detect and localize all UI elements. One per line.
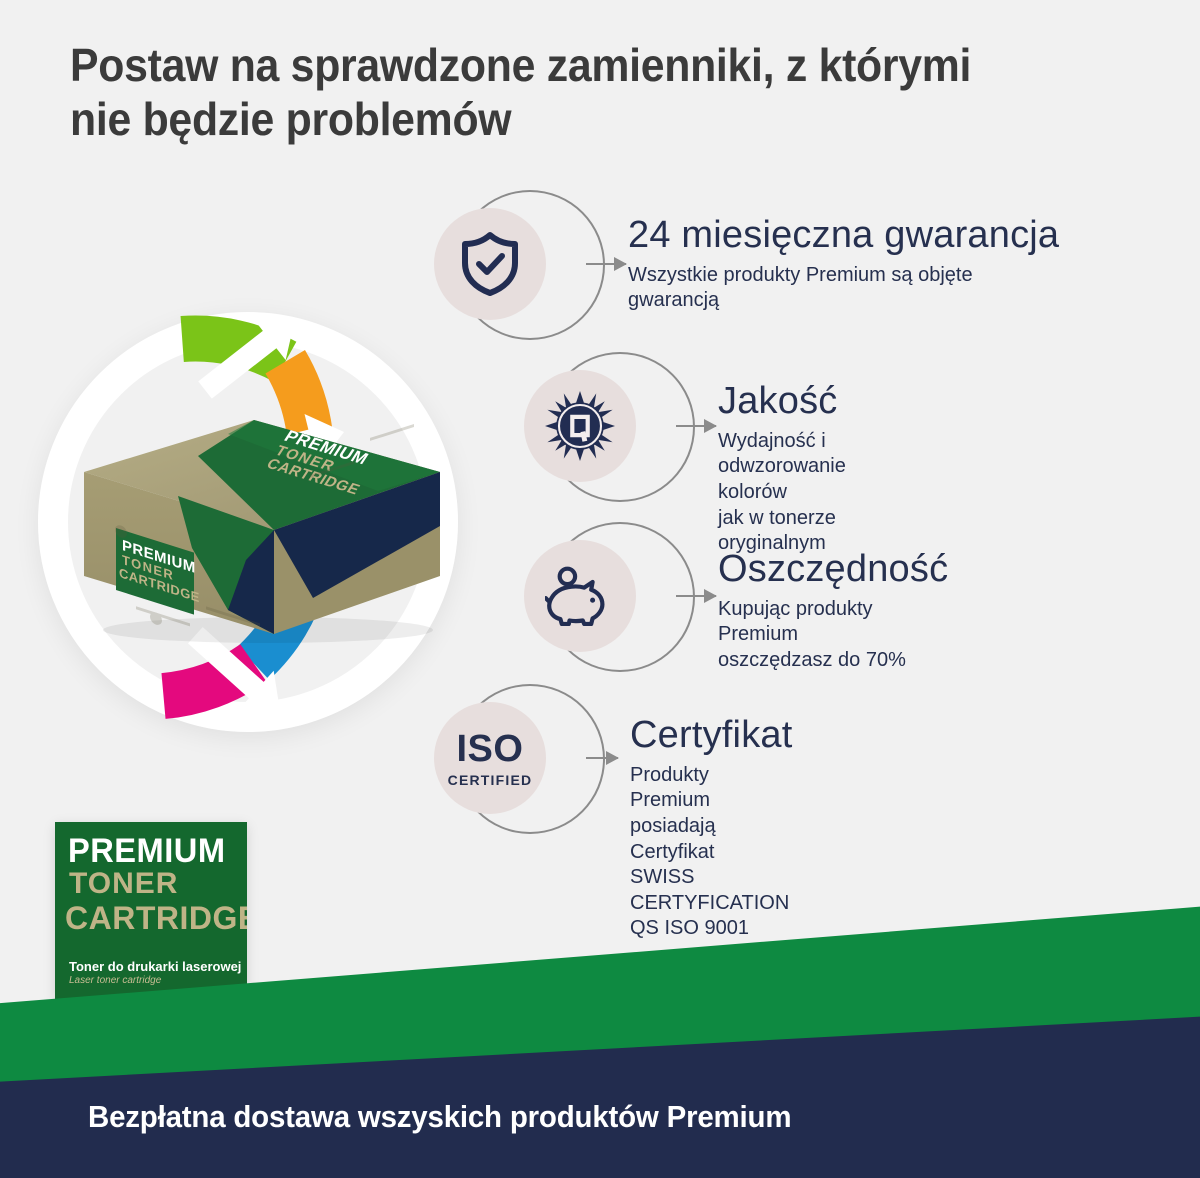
feature-connector-arrow-1 <box>586 263 626 265</box>
iso-label-main: ISO <box>448 730 533 768</box>
quality-sunburst-q-icon <box>545 391 615 461</box>
feature-text-3: Oszczędność Kupując produkty Premium osz… <box>718 550 948 674</box>
feature-title-3: Oszczędność <box>718 550 948 590</box>
logo-tagline-en: Laser toner cartridge <box>69 976 161 986</box>
feature-connector-arrow-2 <box>676 425 716 427</box>
logo-premium-text: PREMIUM <box>68 834 226 868</box>
iso-label-sub: CERTIFIED <box>448 773 533 787</box>
feature-body-2: Wydajność i odwzorowanie kolorów jak w t… <box>718 429 846 557</box>
infographic-canvas: Postaw na sprawdzone zamienniki, z który… <box>0 0 1200 1178</box>
feature-body-3: Kupując produkty Premium oszczędzasz do … <box>718 597 948 674</box>
feature-connector-arrow-3 <box>676 595 716 597</box>
feature-text-2: Jakość Wydajność i odwzorowanie kolorów … <box>718 382 846 557</box>
feature-title-1: 24 miesięczna gwarancja <box>628 216 1059 256</box>
feature-title-2: Jakość <box>718 382 846 422</box>
premium-toner-logo-card: PREMIUM TONER CARTRIDGE Toner do drukark… <box>55 822 247 1002</box>
feature-icon-circle-1 <box>434 208 546 320</box>
logo-toner-text: TONER <box>69 869 178 899</box>
footer-shipping-text: Bezpłatna dostawa wszyskich produktów Pr… <box>88 1099 791 1135</box>
page-title: Postaw na sprawdzone zamienniki, z który… <box>70 38 1056 147</box>
feature-title-4: Certyfikat <box>630 716 792 756</box>
logo-cartridge-text: CARTRIDGE <box>65 902 247 934</box>
feature-text-4: Certyfikat Produkty Premium posiadają Ce… <box>630 716 792 942</box>
shield-check-icon <box>459 231 521 297</box>
feature-icon-circle-3 <box>524 540 636 652</box>
feature-body-1: Wszystkie produkty Premium są objęte gwa… <box>628 263 1059 314</box>
piggy-bank-icon <box>545 566 615 626</box>
toner-cartridge-box-image: PREMIUM TONER CARTRIDGE PREMIUM TONER CA… <box>78 398 446 648</box>
feature-body-4: Produkty Premium posiadają Certyfikat SW… <box>630 763 792 942</box>
iso-certified-icon: ISO CERTIFIED <box>448 730 533 787</box>
feature-connector-arrow-4 <box>586 757 618 759</box>
headline-line-2: nie będzie problemów <box>70 92 1056 146</box>
feature-text-1: 24 miesięczna gwarancja Wszystkie produk… <box>628 216 1059 314</box>
feature-icon-circle-4: ISO CERTIFIED <box>434 702 546 814</box>
headline-line-1: Postaw na sprawdzone zamienniki, z który… <box>70 39 971 91</box>
feature-icon-circle-2 <box>524 370 636 482</box>
logo-tagline-pl: Toner do drukarki laserowej <box>69 960 241 973</box>
